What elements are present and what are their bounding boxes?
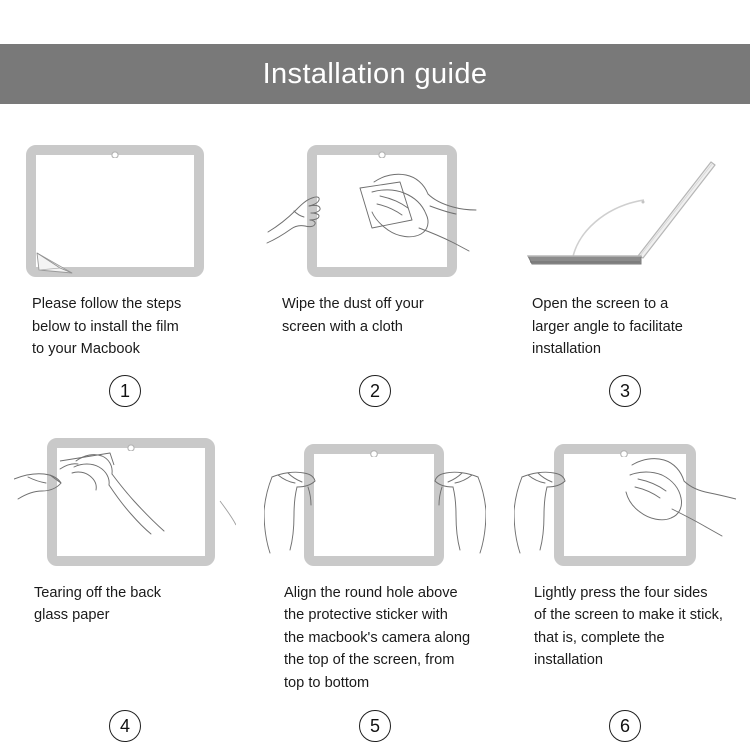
step-caption-3: Open the screen to a larger angle to fac… bbox=[518, 293, 732, 361]
step-badge-wrap-2: 2 bbox=[250, 375, 500, 407]
illustration-screen-with-peeling-film-corner bbox=[14, 144, 236, 279]
illustration-hand-pressing-film-flat bbox=[514, 435, 736, 570]
illustration-hand-peeling-backing-paper bbox=[14, 435, 236, 570]
step-number-badge-2: 2 bbox=[359, 375, 391, 407]
step-number-badge-6: 6 bbox=[609, 710, 641, 742]
installation-guide-page: Installation guide bbox=[0, 0, 750, 750]
step-caption-4: Tearing off the back glass paper bbox=[18, 582, 232, 627]
step-caption-1: Please follow the steps below to install… bbox=[18, 293, 232, 361]
steps-row-top: Please follow the steps below to install… bbox=[0, 128, 750, 407]
step-badge-wrap-4: 4 bbox=[0, 710, 250, 742]
step-card-2: Wipe the dust off your screen with a clo… bbox=[250, 128, 500, 407]
step-badge-wrap-5: 5 bbox=[250, 710, 500, 742]
step-card-1: Please follow the steps below to install… bbox=[0, 128, 250, 407]
page-title: Installation guide bbox=[263, 60, 488, 89]
step-number-badge-3: 3 bbox=[609, 375, 641, 407]
step-number-badge-5: 5 bbox=[359, 710, 391, 742]
step-badge-wrap-1: 1 bbox=[0, 375, 250, 407]
step-badge-wrap-6: 6 bbox=[500, 710, 750, 742]
header-banner: Installation guide bbox=[0, 44, 750, 104]
steps-row-bottom: Tearing off the back glass paper 4 bbox=[0, 429, 750, 743]
step-number-badge-4: 4 bbox=[109, 710, 141, 742]
steps-grid: Please follow the steps below to install… bbox=[0, 128, 750, 742]
step-card-6: Lightly press the four sides of the scre… bbox=[500, 429, 750, 743]
illustration-hands-wiping-screen-with-cloth bbox=[264, 144, 486, 279]
step-number-badge-1: 1 bbox=[109, 375, 141, 407]
illustration-laptop-side-view-opening-lid bbox=[514, 144, 736, 279]
step-card-5: Align the round hole above the protectiv… bbox=[250, 429, 500, 743]
step-caption-2: Wipe the dust off your screen with a clo… bbox=[268, 293, 482, 338]
step-badge-wrap-3: 3 bbox=[500, 375, 750, 407]
step-card-4: Tearing off the back glass paper 4 bbox=[0, 429, 250, 743]
step-caption-6: Lightly press the four sides of the scre… bbox=[518, 582, 732, 672]
step-caption-5: Align the round hole above the protectiv… bbox=[268, 582, 482, 695]
illustration-two-hands-aligning-film-on-screen bbox=[264, 435, 486, 570]
step-card-3: Open the screen to a larger angle to fac… bbox=[500, 128, 750, 407]
